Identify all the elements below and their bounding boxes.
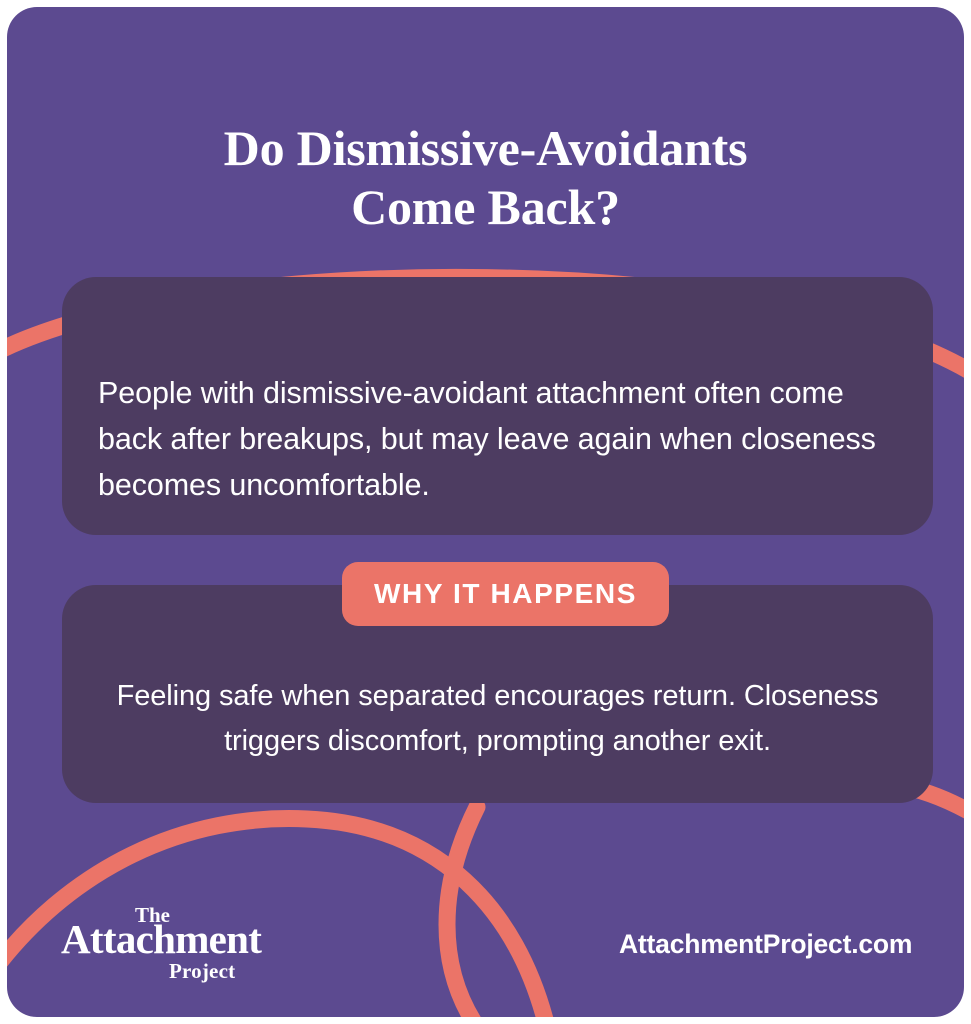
section-badge: WHY IT HAPPENS: [342, 562, 669, 626]
page-title: Do Dismissive-Avoidants Come Back?: [7, 119, 964, 237]
summary-text: People with dismissive-avoidant attachme…: [98, 370, 881, 509]
infographic-card: Do Dismissive-Avoidants Come Back? Peopl…: [7, 7, 964, 1017]
section-badge-label: WHY IT HAPPENS: [374, 580, 637, 608]
brand-logo-project: Project: [169, 961, 235, 982]
page-title-line-2: Come Back?: [7, 178, 964, 237]
brand-logo: The Attachment Project: [61, 905, 271, 989]
reason-text: Feeling safe when separated encourages r…: [90, 674, 905, 764]
coral-arc-bottom-center: [447, 807, 477, 1017]
brand-logo-attachment: Attachment: [61, 919, 261, 960]
page-title-line-1: Do Dismissive-Avoidants: [7, 119, 964, 178]
summary-panel: People with dismissive-avoidant attachme…: [62, 277, 933, 535]
website-url: AttachmentProject.com: [619, 931, 912, 958]
